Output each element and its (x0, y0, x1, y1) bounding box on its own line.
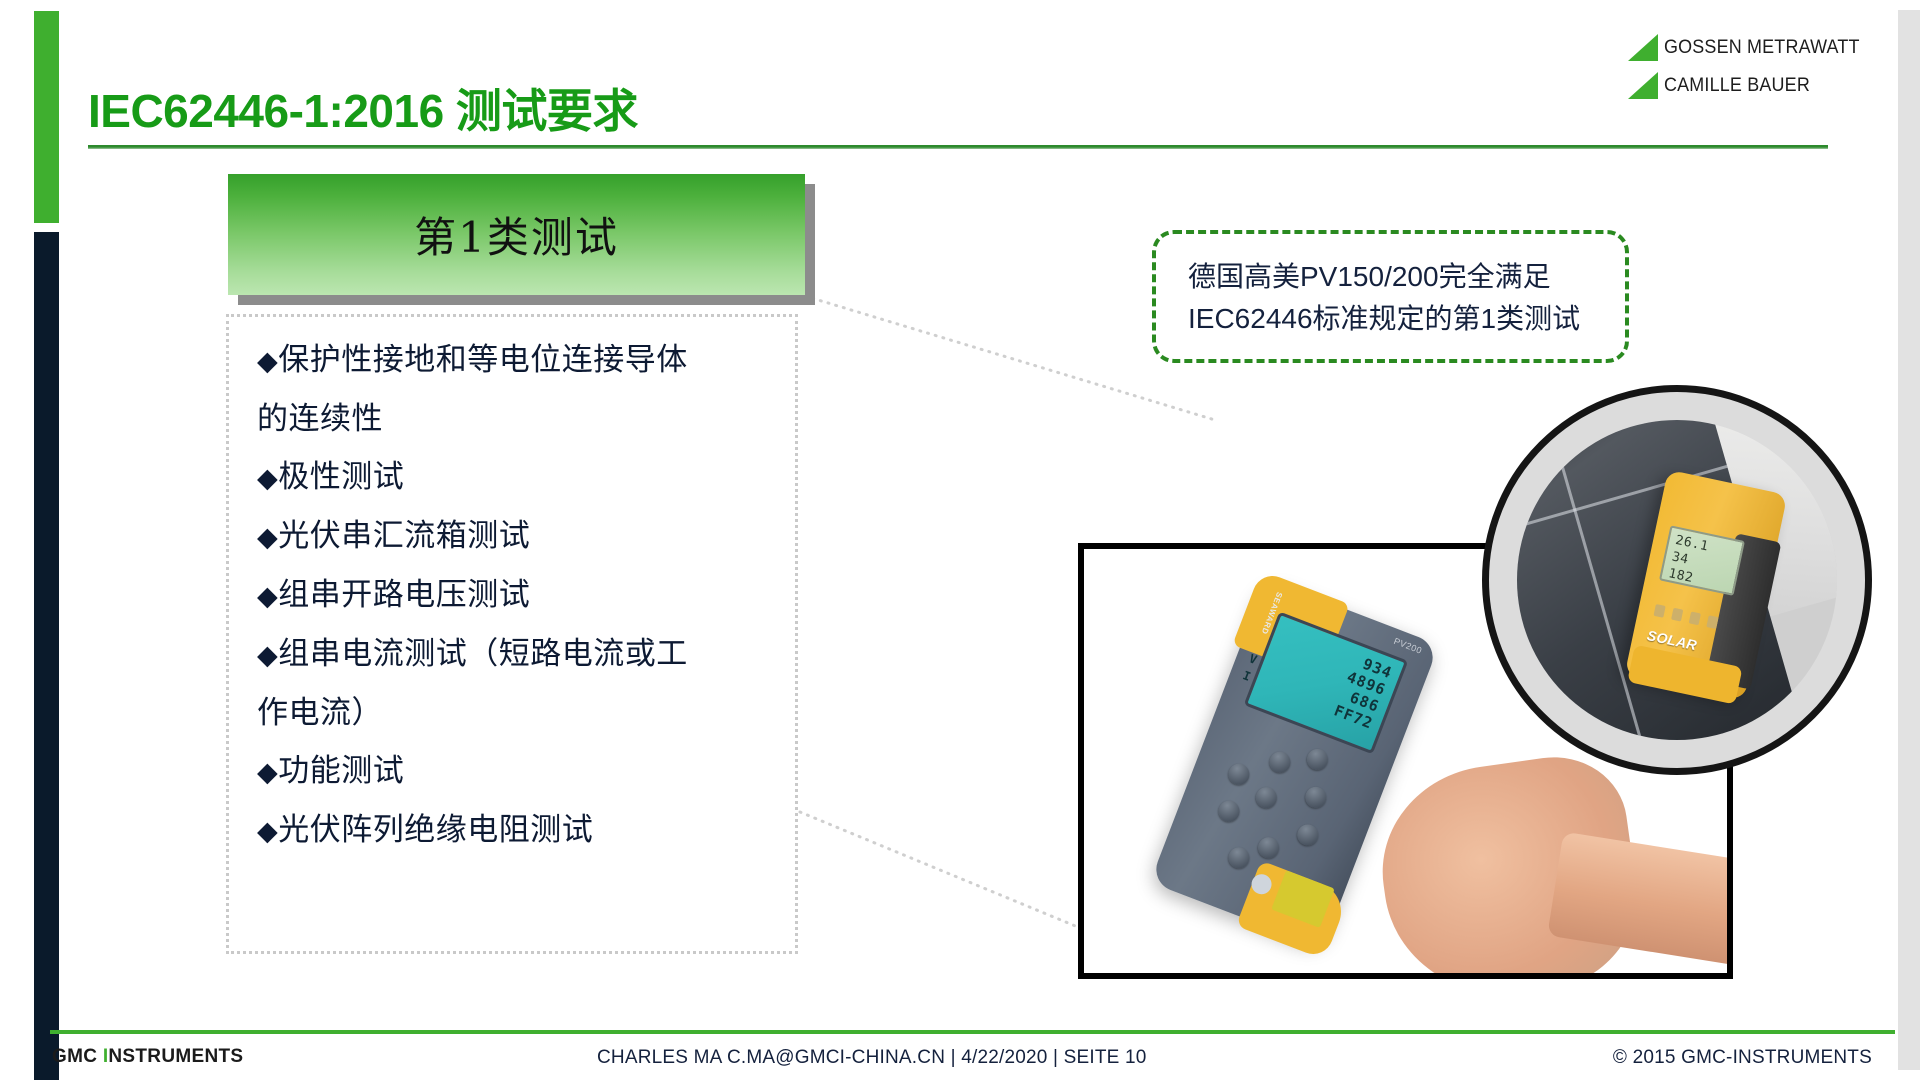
banner-surface: 第1类测试 (228, 174, 805, 295)
slide-root: IEC62446-1:2016 测试要求 GOSSEN METRAWATT CA… (0, 0, 1920, 1080)
diamond-bullet-icon: ◆ (257, 346, 278, 376)
diamond-bullet-icon: ◆ (257, 581, 278, 611)
tester-keypad (1186, 721, 1363, 908)
list-item-label: 组串电流测试（短路电流或工 (278, 636, 688, 671)
list-item-continuation: 的连续性 (257, 390, 777, 448)
keypad-button (1225, 844, 1252, 871)
test-items-box: ◆保护性接地和等电位连接导体 的连续性 ◆极性测试 ◆光伏串汇流箱测试 ◆组串开… (226, 314, 798, 954)
meter-button (1653, 604, 1665, 618)
list-item: ◆功能测试 (257, 742, 777, 801)
list-item: ◆组串电流测试（短路电流或工 (257, 625, 777, 684)
list-item: ◆极性测试 (257, 448, 777, 507)
list-item-label: 组串开路电压测试 (278, 577, 530, 612)
list-item-continuation: 作电流） (257, 684, 777, 742)
inset-image-area: 26.1 34 182 SOLAR (1517, 420, 1837, 740)
callout-box: 德国高美PV150/200完全满足 IEC62446标准规定的第1类测试 (1152, 230, 1629, 363)
readout-label-i: I (1240, 666, 1254, 686)
callout-line-2: IEC62446标准规定的第1类测试 (1188, 298, 1625, 340)
footer-meta: CHARLES MA C.MA@GMCI-CHINA.CN | 4/22/202… (597, 1047, 1147, 1069)
list-item-label: 光伏阵列绝缘电阻测试 (278, 812, 593, 847)
list-item: ◆组串开路电压测试 (257, 566, 777, 625)
footer-brand-rest: NSTRUMENTS (108, 1046, 243, 1067)
list-item: ◆保护性接地和等电位连接导体 (257, 331, 777, 390)
list-item-label: 极性测试 (278, 459, 404, 494)
callout-line-1: 德国高美PV150/200完全满足 (1188, 256, 1625, 298)
diamond-bullet-icon: ◆ (257, 522, 278, 552)
keypad-button (1225, 761, 1252, 788)
category-banner: 第1类测试 (228, 174, 805, 295)
diamond-bullet-icon: ◆ (257, 463, 278, 493)
meter-button (1671, 608, 1683, 622)
diamond-bullet-icon: ◆ (257, 757, 278, 787)
meter-lcd-screen: 26.1 34 182 (1659, 525, 1745, 596)
footer-brand-gmc: GMC (52, 1046, 103, 1067)
keypad-button (1215, 798, 1242, 825)
banner-label: 第1类测试 (414, 204, 619, 265)
list-item-label: 保护性接地和等电位连接导体 (278, 342, 688, 377)
keypad-button (1255, 834, 1282, 861)
keypad-button (1253, 784, 1280, 811)
footer-brand: GMC INSTRUMENTS (52, 1046, 243, 1068)
keypad-button (1304, 746, 1331, 773)
test-items-list: ◆保护性接地和等电位连接导体 的连续性 ◆极性测试 ◆光伏串汇流箱测试 ◆组串开… (257, 331, 777, 860)
keypad-button (1266, 749, 1293, 776)
list-item: ◆光伏阵列绝缘电阻测试 (257, 801, 777, 860)
footer-rule (50, 1030, 1895, 1034)
list-item: ◆光伏串汇流箱测试 (257, 507, 777, 566)
diamond-bullet-icon: ◆ (257, 816, 278, 846)
keypad-button (1294, 821, 1321, 848)
product-photo-inset: 26.1 34 182 SOLAR (1482, 385, 1872, 775)
tester-readout: 934 4896 V686 IFF72 (1332, 651, 1395, 733)
list-item-label: 光伏串汇流箱测试 (278, 518, 530, 553)
tester-model-label: PV200 (1392, 636, 1423, 656)
list-item-label: 功能测试 (278, 753, 404, 788)
meter-buttons (1653, 604, 1718, 629)
footer-copyright: © 2015 GMC-INSTRUMENTS (1613, 1047, 1872, 1069)
meter-button (1689, 611, 1701, 625)
diamond-bullet-icon: ◆ (257, 640, 278, 670)
keypad-button (1302, 784, 1329, 811)
